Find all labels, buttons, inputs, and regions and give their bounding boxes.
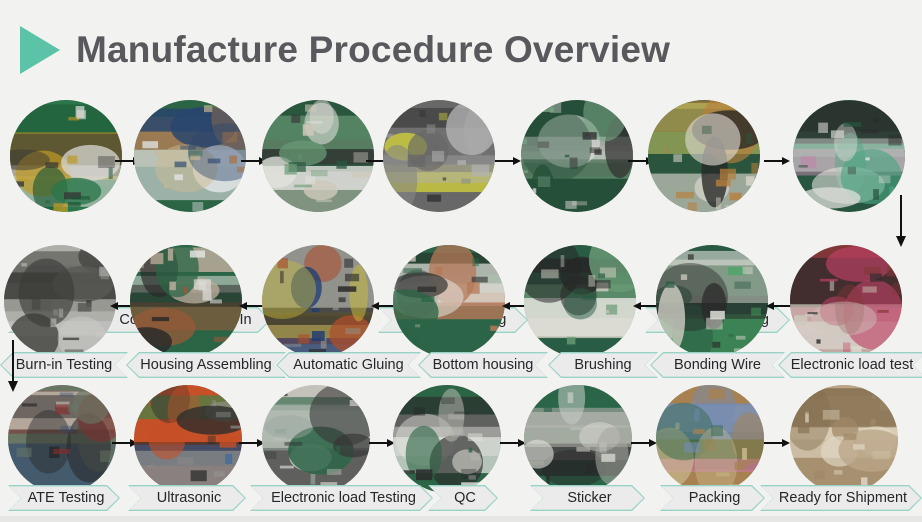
repair-welding-photo [648, 100, 760, 212]
step-label-chevron[interactable]: Sticker [530, 485, 645, 511]
step-label-chevron[interactable]: Electronic load Testing [250, 485, 433, 511]
step-label-text: Bottom housing [419, 353, 546, 376]
qc-inspection-1-photo [262, 100, 374, 212]
components-plug-in-photo [134, 100, 246, 212]
step-label-text: Electronic load test [779, 353, 922, 376]
housing-assembling-photo [130, 245, 242, 357]
qc-inspection-3-photo [793, 100, 905, 212]
step-label-chevron[interactable]: Bottom housing [418, 352, 548, 378]
arrow-shaft [764, 442, 784, 444]
arrow-head [782, 439, 790, 447]
packing-photo [656, 385, 764, 493]
smt-machine-photo [10, 100, 122, 212]
arrow-head [371, 302, 379, 310]
process-step-node [134, 100, 246, 212]
step-label-text: Packing [661, 486, 763, 509]
process-step-node [790, 385, 898, 493]
flow-arrow-right [495, 155, 521, 167]
cartons-stacked-photo [790, 385, 898, 493]
step-label-text: QC [429, 486, 496, 509]
step-label-chevron[interactable]: Housing Assembling [126, 352, 286, 378]
row-1-photo-strip [0, 100, 922, 205]
process-step-node [262, 385, 370, 493]
arrow-head [782, 157, 790, 165]
process-row-3: ATE TestingUltrasonicElectronic load Tes… [0, 385, 922, 522]
arrow-shaft [12, 340, 14, 382]
ate-testing-photo [8, 385, 116, 493]
arrow-shaft [112, 442, 132, 444]
burn-in-racks-photo [4, 245, 116, 357]
arrow-shaft [241, 160, 261, 162]
arrow-shaft [115, 160, 135, 162]
ultrasonic-machine-photo [134, 385, 242, 493]
process-step-node [790, 245, 902, 357]
process-step-node [8, 385, 116, 493]
flow-arrow-left [766, 300, 792, 312]
connector-arrow-row1-to-row2 [895, 195, 907, 247]
process-step-node [130, 245, 242, 357]
bottom-housing-photo [393, 245, 505, 357]
process-step-node [10, 100, 122, 212]
step-label-text: Burn-in Testing [1, 353, 126, 376]
arrow-shaft [631, 442, 651, 444]
arrow-shaft [900, 195, 902, 237]
arrow-shaft [369, 442, 389, 444]
arrow-shaft [772, 305, 792, 307]
arrow-head [502, 302, 510, 310]
process-step-node [262, 100, 374, 212]
page-title: Manufacture Procedure Overview [76, 29, 670, 71]
automatic-gluing-photo [262, 245, 374, 357]
step-label-text: Sticker [531, 486, 643, 509]
flow-arrow-right [369, 437, 395, 449]
row-2-label-strip: Burn-in TestingHousing AssemblingAutomat… [0, 352, 922, 380]
process-step-node [262, 245, 374, 357]
arrow-shaft [239, 442, 259, 444]
flow-arrow-right [764, 155, 790, 167]
step-label-text: Housing Assembling [127, 353, 284, 376]
step-label-text: Brushing [549, 353, 656, 376]
arrow-shaft [764, 160, 784, 162]
process-row-2: Burn-in TestingHousing AssemblingAutomat… [0, 245, 922, 390]
process-step-node [393, 245, 505, 357]
step-label-chevron[interactable]: Bonding Wire [650, 352, 785, 378]
process-step-node [383, 100, 495, 212]
arrow-head [110, 302, 118, 310]
process-step-node [648, 100, 760, 212]
play-triangle-icon [20, 26, 60, 74]
step-label-text: Electronic load Testing [251, 486, 431, 509]
step-label-chevron[interactable]: Burn-in Testing [0, 352, 128, 378]
step-label-chevron[interactable]: Ultrasonic [128, 485, 246, 511]
arrow-head [633, 302, 641, 310]
step-label-text: Ultrasonic [129, 486, 244, 509]
step-label-chevron[interactable]: Brushing [548, 352, 658, 378]
sticker-photo [524, 385, 632, 493]
bonding-wire-photo [656, 245, 768, 357]
flow-arrow-right [500, 437, 526, 449]
process-step-node [656, 385, 764, 493]
step-label-text: ATE Testing [9, 486, 118, 509]
arrow-head [8, 381, 18, 392]
process-step-node [393, 385, 501, 493]
row-3-label-strip: ATE TestingUltrasonicElectronic load Tes… [0, 485, 922, 513]
step-label-text: Automatic Gluing [277, 353, 419, 376]
connector-arrow-row2-to-row3 [7, 340, 19, 392]
process-step-node [524, 385, 632, 493]
arrow-head [896, 236, 906, 247]
flow-arrow-right [764, 437, 790, 449]
arrow-head [513, 157, 521, 165]
page-header: Manufacture Procedure Overview [0, 0, 922, 100]
arrow-shaft [628, 160, 648, 162]
brushing-photo [524, 245, 636, 357]
process-step-node [521, 100, 633, 212]
process-row-1: SMTComponents Plug-InQCWave-SolderingQCR… [0, 100, 922, 245]
row-2-photo-strip [0, 245, 922, 363]
step-label-chevron[interactable]: Packing [660, 485, 765, 511]
process-step-node [793, 100, 905, 212]
step-label-chevron[interactable]: ATE Testing [8, 485, 120, 511]
arrow-shaft [495, 160, 515, 162]
wave-soldering-machine-photo [383, 100, 495, 212]
step-label-chevron[interactable]: Electronic load test [778, 352, 922, 378]
flow-arrow-right [631, 437, 657, 449]
electronic-load-test-photo [790, 245, 902, 357]
step-label-text: Ready for Shipment [761, 486, 920, 509]
arrow-head [766, 302, 774, 310]
footer-bar [0, 516, 922, 522]
step-label-chevron[interactable]: Automatic Gluing [276, 352, 421, 378]
qc-inspection-2-photo [521, 100, 633, 212]
process-step-node [656, 245, 768, 357]
step-label-text: Bonding Wire [651, 353, 783, 376]
process-step-node [4, 245, 116, 357]
step-label-chevron[interactable]: QC [428, 485, 498, 511]
process-step-node [524, 245, 636, 357]
qc-final-photo [393, 385, 501, 493]
arrow-shaft [500, 442, 520, 444]
step-label-chevron[interactable]: Ready for Shipment [760, 485, 922, 511]
process-step-node [134, 385, 242, 493]
arrow-head [239, 302, 247, 310]
electronic-load-testing-photo [262, 385, 370, 493]
